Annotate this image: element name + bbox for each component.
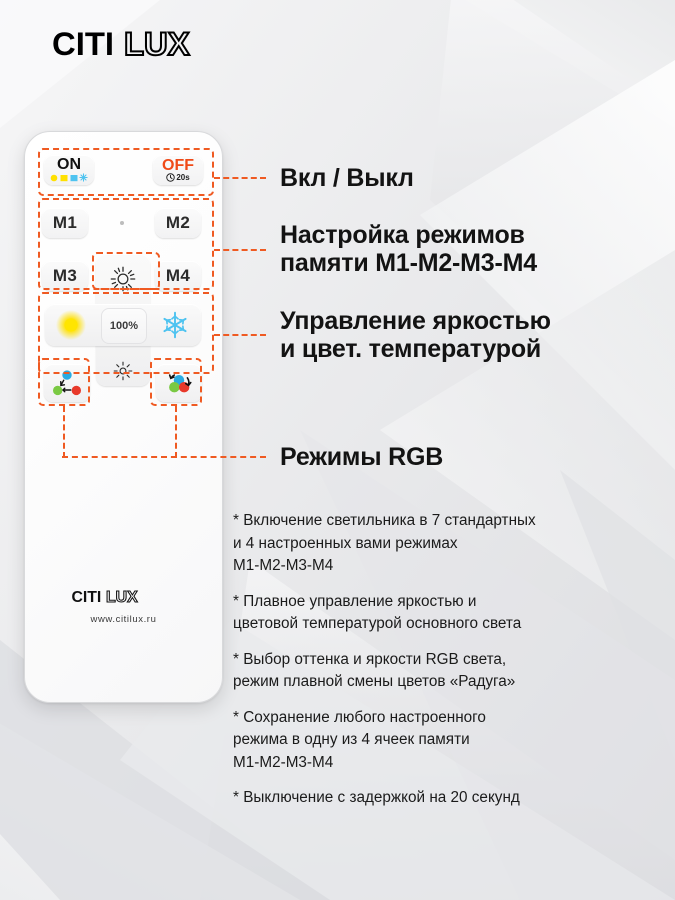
dashed-box-power — [38, 148, 214, 196]
logo-citi-text: CITI — [52, 27, 114, 62]
callout-power: Вкл / Выкл — [280, 164, 414, 192]
connector-memory — [214, 249, 266, 251]
note-item: * Плавное управление яркостью и цветовой… — [233, 591, 663, 636]
connector-brightness — [214, 334, 266, 336]
brand-logo: CITI LUX — [52, 24, 255, 66]
logo-lux-text: LUX — [124, 27, 190, 62]
connector-rgb-horizontal — [62, 456, 266, 458]
note-item: * Выключение с задержкой на 20 секунд — [233, 787, 663, 810]
callout-brightness: Управление яркостью и цвет. температурой — [280, 307, 551, 363]
callout-memory: Настройка режимов памяти M1-M2-M3-M4 — [280, 221, 537, 277]
dashed-box-rgb-left — [38, 358, 90, 406]
dashed-box-rgb-right — [150, 358, 202, 406]
connector-power — [214, 177, 266, 179]
note-item: * Сохранение любого настроенного режима … — [233, 707, 663, 775]
citilux-logo-icon: CITI LUX — [52, 27, 255, 63]
remote-logo-lux-text: LUX — [106, 589, 138, 606]
connector-rgb-right-vertical — [175, 406, 177, 458]
remote-website-url: www.citilux.ru — [25, 614, 222, 625]
dashed-box-brightness-up — [92, 252, 160, 290]
remote-logo-citi-text: CITI — [71, 589, 101, 606]
note-item: * Включение светильника в 7 стандартных … — [233, 510, 663, 578]
remote-citilux-logo-icon: CITI LUX — [70, 587, 178, 607]
callout-rgb: Режимы RGB — [280, 443, 443, 471]
note-item: * Выбор оттенка и яркости RGB света, реж… — [233, 649, 663, 694]
remote-footer-logo: CITI LUX www.citilux.ru — [25, 587, 222, 625]
feature-notes-list: * Включение светильника в 7 стандартных … — [233, 510, 663, 823]
connector-rgb-left-vertical — [63, 406, 65, 458]
